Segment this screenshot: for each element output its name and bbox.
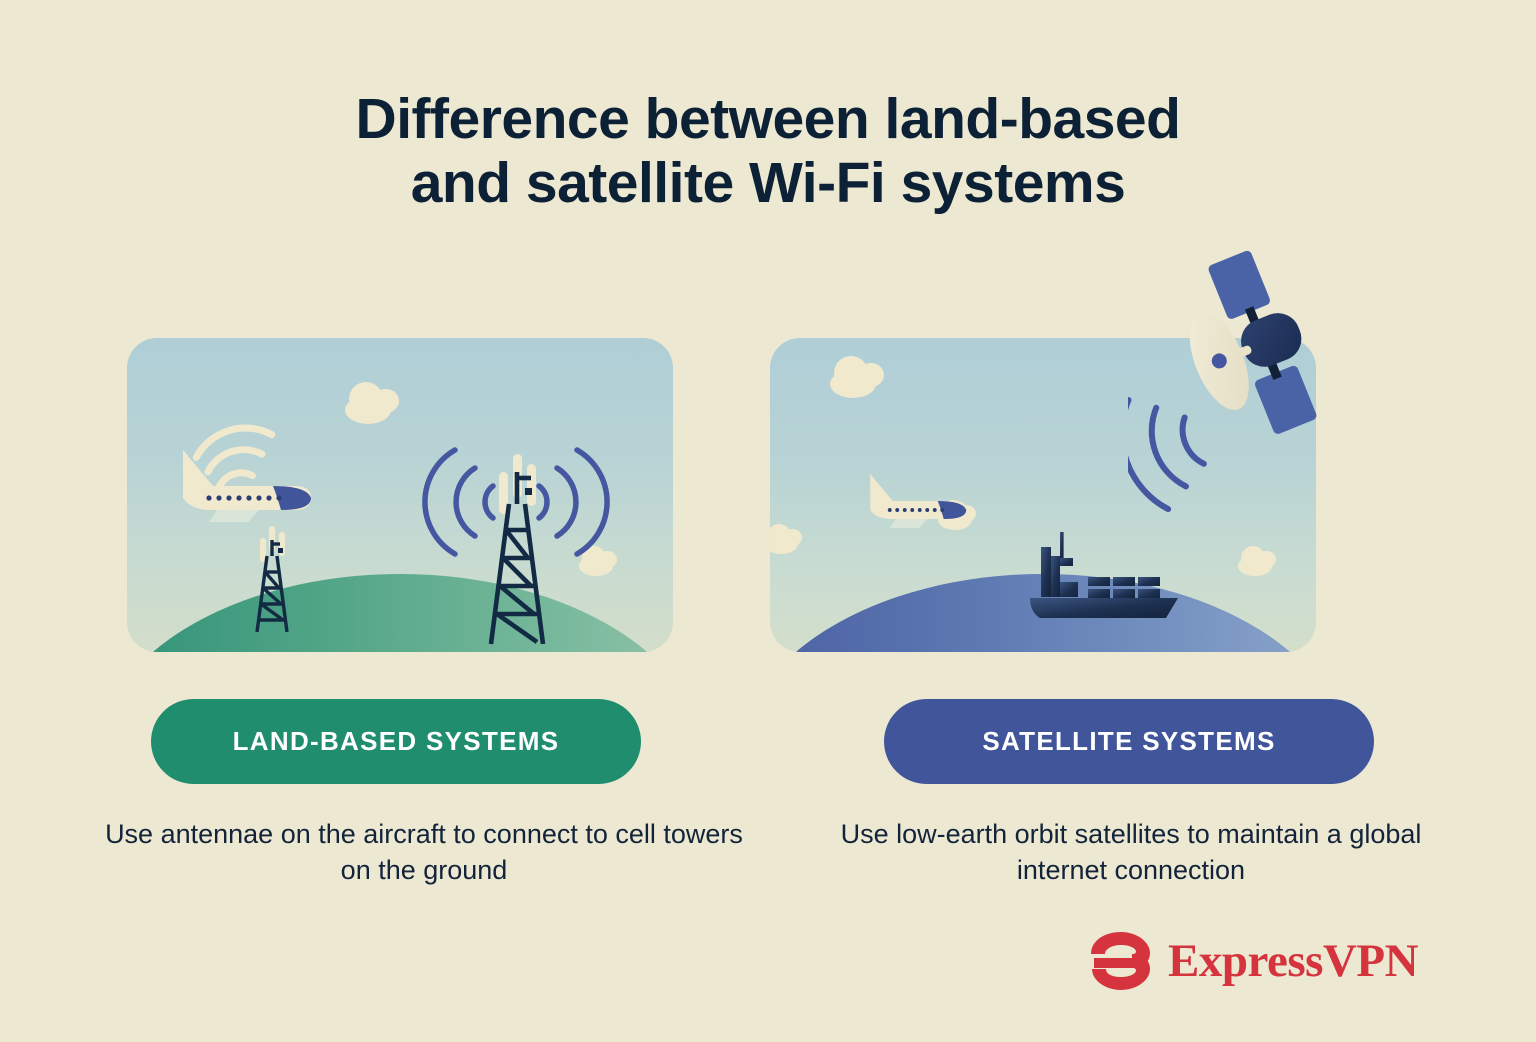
satellite-systems-button[interactable]: SATELLITE SYSTEMS (884, 699, 1374, 784)
satellite-icon (1156, 250, 1356, 440)
cloud-icon (1238, 556, 1272, 576)
satellite-systems-button-label: SATELLITE SYSTEMS (982, 726, 1275, 757)
page-title-line-1: Difference between land-based (0, 88, 1536, 152)
cloud-icon (770, 534, 798, 554)
satellite-column: SATELLITE SYSTEMS Use low-earth orbit sa… (770, 338, 1410, 888)
land-scene-clip (127, 338, 673, 652)
signal-arcs-icon (421, 442, 611, 562)
satellite-illustration (770, 338, 1316, 652)
cloud-icon (345, 396, 391, 424)
cell-tower-small-icon (247, 526, 307, 638)
expressvpn-e-mark-icon (1088, 930, 1154, 992)
airplane-icon (177, 402, 327, 522)
green-hill (127, 574, 673, 652)
land-based-caption: Use antennae on the aircraft to connect … (104, 816, 744, 888)
land-based-column: LAND-BASED SYSTEMS Use antennae on the a… (127, 338, 767, 888)
airplane-icon (862, 438, 982, 528)
satellite-caption: Use low-earth orbit satellites to mainta… (811, 816, 1451, 888)
land-based-illustration (127, 338, 673, 652)
land-based-systems-button[interactable]: LAND-BASED SYSTEMS (151, 699, 641, 784)
cargo-ship-icon (1018, 530, 1198, 640)
page-title: Difference between land-based and satell… (0, 88, 1536, 216)
expressvpn-wordmark: ExpressVPN (1168, 934, 1418, 988)
land-based-systems-button-label: LAND-BASED SYSTEMS (233, 726, 560, 757)
cloud-icon (830, 370, 876, 398)
page-title-line-2: and satellite Wi-Fi systems (0, 152, 1536, 216)
expressvpn-logo[interactable]: ExpressVPN (1088, 930, 1418, 992)
